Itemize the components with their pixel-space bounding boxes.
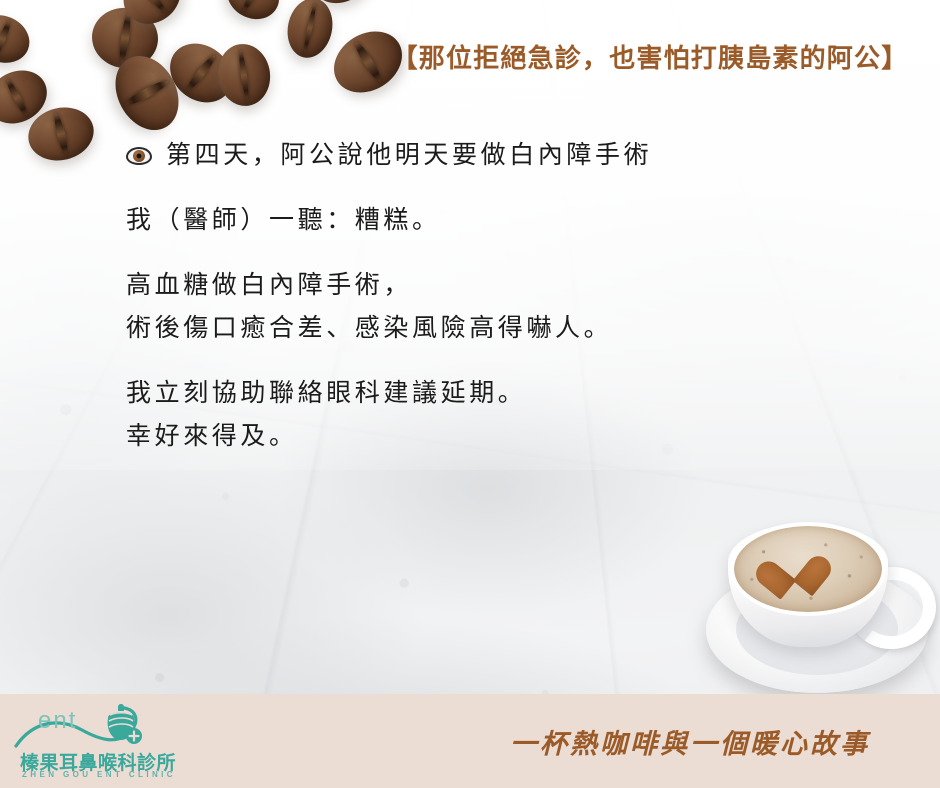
page-title: 【那位拒絕急診，也害怕打胰島素的阿公】: [390, 38, 910, 75]
body-line: 高血糖做白內障手術，: [126, 263, 826, 306]
social-post-canvas: 【那位拒絕急診，也害怕打胰島素的阿公】 第四天，阿公說他明天要做白內障手術 我（…: [0, 0, 940, 788]
body-line: 第四天，阿公說他明天要做白內障手術: [126, 133, 826, 176]
body-line: 我（醫師）一聽：糟糕。: [126, 198, 826, 241]
paragraph: 我立刻協助聯絡眼科建議延期。 幸好來得及。: [126, 371, 826, 457]
coffee-bean-icon: [0, 7, 37, 71]
body-line-text: 第四天，阿公說他明天要做白內障手術: [166, 140, 652, 169]
coffee-beans-group: [0, 0, 400, 136]
footer-tagline: 一杯熱咖啡與一個暖心故事: [470, 722, 910, 761]
coffee-bean-icon: [214, 41, 274, 110]
paragraph: 高血糖做白內障手術， 術後傷口癒合差、感染風險高得嚇人。: [126, 263, 826, 349]
heart-latte-art-icon: [772, 549, 822, 594]
footer-bar: ent 榛果耳鼻喉科診所 ZHEN GOU ENT CLINIC 一杯熱咖啡與一…: [0, 694, 940, 788]
clinic-logo[interactable]: ent 榛果耳鼻喉科診所 ZHEN GOU ENT CLINIC: [12, 700, 172, 784]
post-body: 第四天，阿公說他明天要做白內障手術 我（醫師）一聽：糟糕。 高血糖做白內障手術，…: [126, 133, 826, 457]
logo-mark-icon: ent: [12, 700, 168, 752]
body-line: 我立刻協助聯絡眼科建議延期。: [126, 371, 826, 414]
coffee-bean-icon: [282, 0, 338, 62]
paragraph: 第四天，阿公說他明天要做白內障手術: [126, 133, 826, 176]
coffee-cup-group: [700, 505, 940, 705]
paragraph: 我（醫師）一聽：糟糕。: [126, 198, 826, 241]
svg-text:ent: ent: [38, 707, 77, 734]
body-line: 幸好來得及。: [126, 414, 826, 457]
eye-icon: [126, 147, 152, 165]
clinic-name-en: ZHEN GOU ENT CLINIC: [22, 770, 176, 779]
body-line: 術後傷口癒合差、感染風險高得嚇人。: [126, 306, 826, 349]
coffee-bean-icon: [218, 0, 288, 28]
